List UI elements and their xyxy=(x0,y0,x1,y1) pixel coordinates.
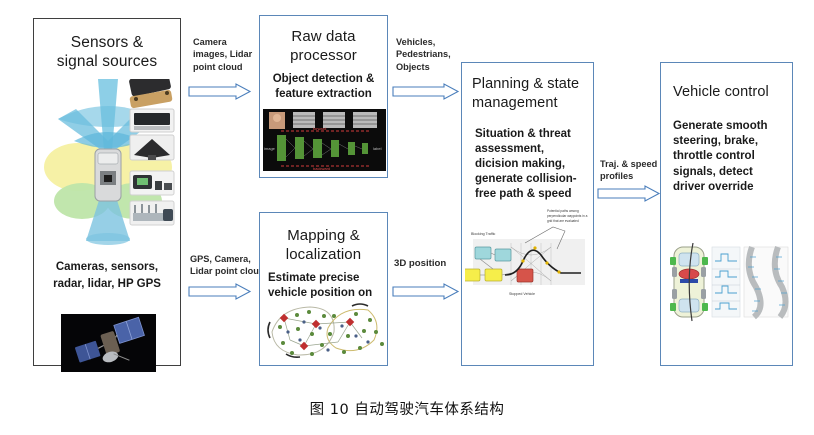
svg-text:backward: backward xyxy=(313,166,330,171)
neural-network-diagram: forward backward image label xyxy=(263,109,386,171)
plan-label-potential-paths: Potential paths among xyxy=(547,209,579,213)
box-raw-title: Raw data processor xyxy=(266,28,381,66)
svg-text:image: image xyxy=(264,146,276,151)
svg-text:perpendicular waypoints in a: perpendicular waypoints in a xyxy=(547,214,588,218)
box-sensors-signal-sources: Sensors & signal sources xyxy=(33,18,181,366)
svg-text:label: label xyxy=(373,146,382,151)
box-control-subtitle: Generate smooth steering, brake, throttl… xyxy=(673,119,787,195)
vehicle-control-diagram xyxy=(666,243,790,323)
local-map-graph xyxy=(264,298,385,363)
arrow-planning-to-control xyxy=(597,185,661,203)
box-mapping-title: Mapping & localization xyxy=(266,227,381,265)
svg-text:forward: forward xyxy=(313,126,326,131)
arrow-label-3d-position: 3D position xyxy=(394,258,446,271)
arrow-raw-to-planning xyxy=(392,83,460,101)
box-vehicle-control: Vehicle control Generate smooth steering… xyxy=(660,62,793,366)
arrow-label-camera-images: Camera images, Lidar point cloud xyxy=(193,36,252,73)
box-raw-subtitle: Object detection & feature extraction xyxy=(267,72,380,102)
plan-label-blocking-traffic: Blocking Traffic xyxy=(471,232,496,236)
arrow-sensors-to-mapping xyxy=(188,283,252,301)
box-planning-state-management: Planning & state management Situation & … xyxy=(461,62,594,366)
box-raw-data-processor: Raw data processor Object detection & fe… xyxy=(259,15,388,178)
gps-satellite-photo xyxy=(61,314,156,372)
box-sensors-footer: Cameras, sensors, radar, lidar, HP GPS xyxy=(34,259,180,292)
arrow-label-vehicles-pedestrians: Vehicles, Pedestrians, Objects xyxy=(396,36,451,73)
arrow-label-gps-camera: GPS, Camera, Lidar point cloud xyxy=(190,253,265,278)
path-planning-diagram: Blocking Traffic Stopped Vehicle Potenti… xyxy=(465,203,592,318)
figure-canvas: Sensors & signal sources xyxy=(0,0,814,435)
arrow-mapping-to-planning xyxy=(392,283,460,301)
box-sensors-title: Sensors & signal sources xyxy=(40,33,174,72)
svg-text:grid that are evaluated: grid that are evaluated xyxy=(547,219,579,223)
figure-caption: 图 10 自动驾驶汽车体系结构 xyxy=(0,398,814,419)
arrow-label-traj-speed: Traj. & speed profiles xyxy=(600,158,657,183)
box-control-title: Vehicle control xyxy=(673,83,782,101)
box-planning-title: Planning & state management xyxy=(472,75,583,113)
arrow-sensors-to-raw xyxy=(188,83,252,101)
box-mapping-localization: Mapping & localization Estimate precise … xyxy=(259,212,388,366)
plan-label-stopped-vehicle: Stopped Vehicle xyxy=(509,292,535,296)
sensor-coverage-diagram xyxy=(34,79,182,254)
